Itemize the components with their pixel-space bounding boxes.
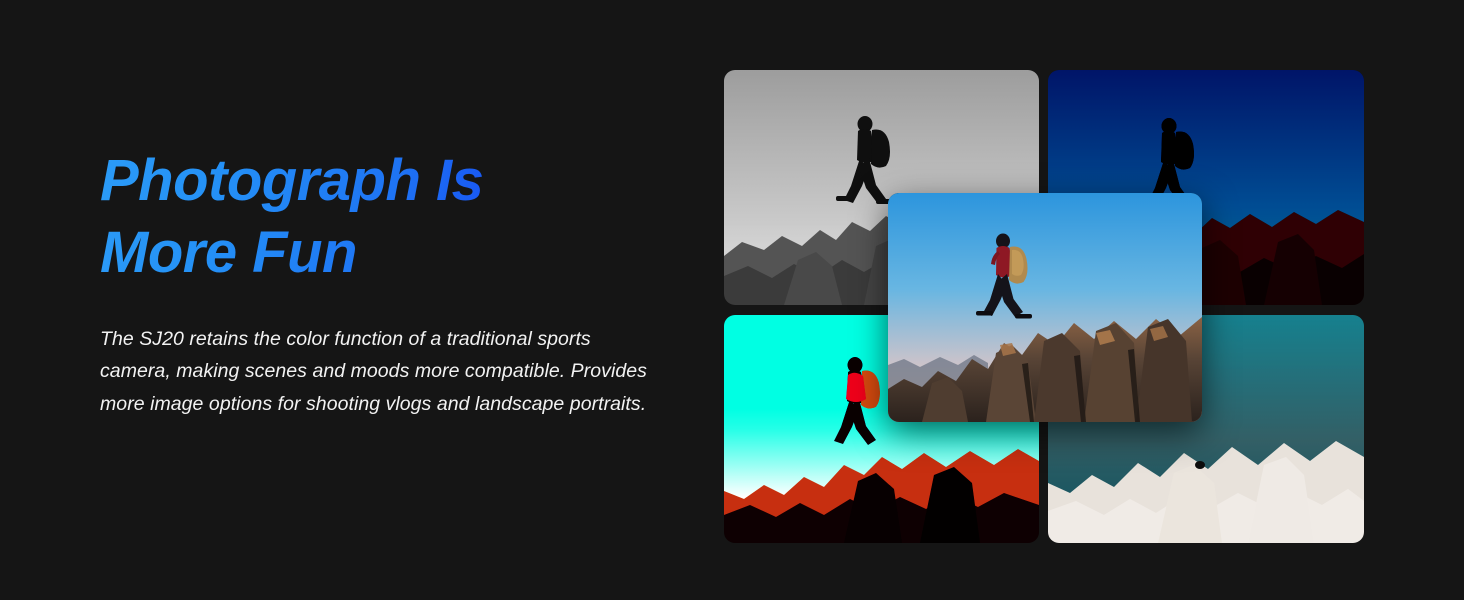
hiker-summit-photo-natural bbox=[888, 193, 1202, 422]
photo-gallery bbox=[724, 70, 1364, 543]
body-paragraph: The SJ20 retains the color function of a… bbox=[100, 323, 660, 420]
copy-block: Photograph Is More Fun The SJ20 retains … bbox=[100, 145, 660, 420]
page-title: Photograph Is More Fun bbox=[100, 145, 660, 289]
photo-tile-center-natural[interactable] bbox=[888, 193, 1202, 422]
hero-section: Photograph Is More Fun The SJ20 retains … bbox=[0, 0, 1464, 600]
